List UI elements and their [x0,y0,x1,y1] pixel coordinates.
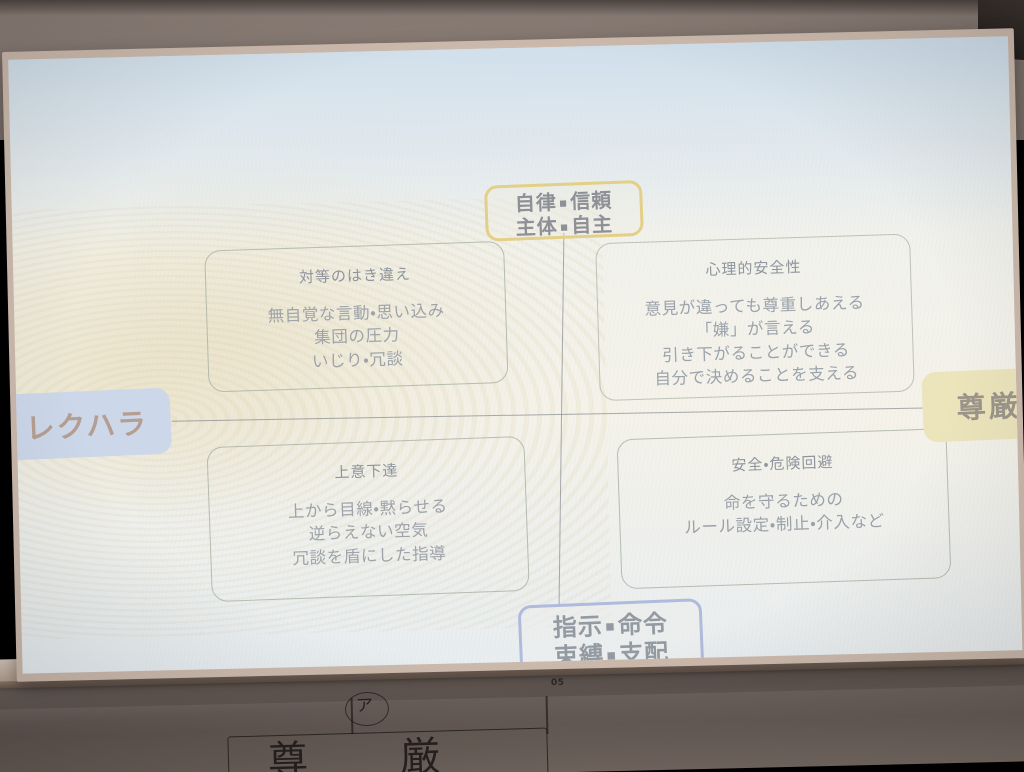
axis-label-bottom-word-1: 指示 [552,612,603,642]
axis-label-top-word-2: 信頼 [570,188,613,214]
axis-label-right: 尊厳 [921,367,1022,442]
axis-label-top: 自律▪信頼 主体▪自主 [484,180,644,242]
axis-label-right-text: 尊厳 [956,383,1022,428]
quadrant-top-right-title: 心理的安全性 [603,253,905,283]
quadrant-top-left-title: 対等のはき違え [212,260,499,290]
wall-shadow [0,0,1024,16]
quadrant-bottom-left-title: 上意下達 [214,455,519,487]
quadrant-top-right: 心理的安全性 意見が違っても尊重しあえる 「嫌」が言える 引き下がることができる… [595,234,915,402]
photo-canvas: ア 尊厳 05 対等のはき違え 無自覚な言動・思い込み 集団の圧力 いじり・冗談… [0,0,1024,772]
separator-dot-icon: ▪ [603,617,619,636]
axis-label-left-text: レクハラ [25,401,149,448]
horizontal-axis-line [172,407,962,422]
axis-label-top-line-2: 主体▪自主 [488,212,641,241]
vertical-axis-line [559,233,565,605]
projection-screen: 対等のはき違え 無自覚な言動・思い込み 集団の圧力 いじり・冗談 心理的安全性 … [2,28,1024,682]
axis-label-top-word-1: 自律 [514,190,557,216]
screen-surface: 対等のはき違え 無自覚な言動・思い込み 集団の圧力 いじり・冗談 心理的安全性 … [8,36,1022,673]
quadrant-bottom-left: 上意下達 上から目線・黙らせる 逆らえない空気 冗談を盾にした指導 [206,436,529,602]
quadrant-top-left: 対等のはき違え 無自覚な言動・思い込み 集団の圧力 いじり・冗談 [204,241,508,393]
ledge-number-label: 05 [551,678,565,688]
axis-label-bottom-word-2: 命令 [617,609,668,639]
quadrant-bottom-right-title: 安全・危険回避 [624,447,941,479]
separator-dot-icon: ▪ [557,195,571,210]
separator-dot-icon: ▪ [557,218,571,233]
axis-label-top-word-4: 自主 [571,212,614,238]
handwriting-boxed-word: 尊厳 [267,734,532,772]
handwriting-circled-char: ア [356,698,373,715]
quadrant-bottom-right: 安全・危険回避 命を守るための ルール設定・制止・介入など [617,428,952,589]
axis-label-top-word-3: 主体 [515,214,558,240]
axis-label-left: レクハラ [8,388,172,461]
